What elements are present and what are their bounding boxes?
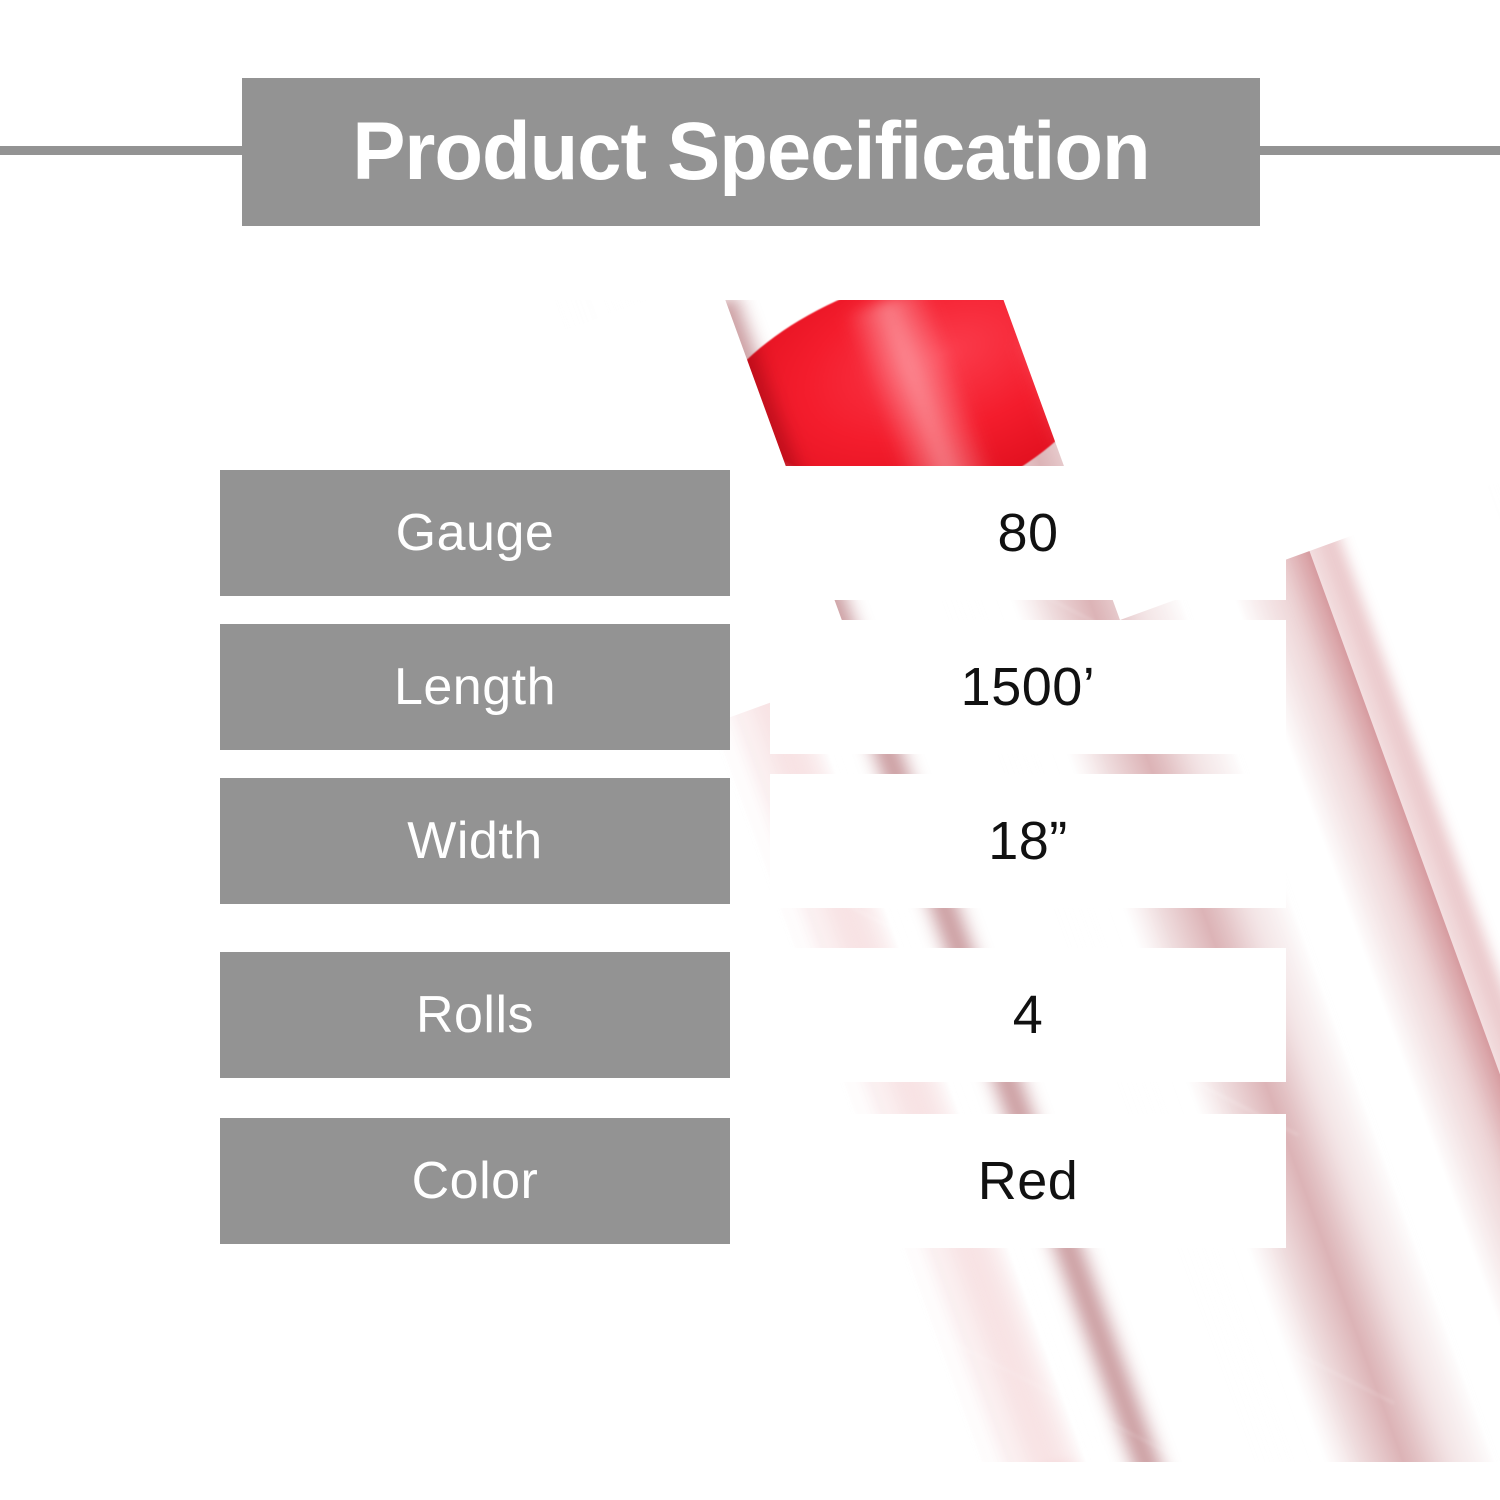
spec-value-text: Red: [978, 1154, 1079, 1208]
product-spec-canvas: Product Specification Gauge 80 Length 15…: [0, 0, 1500, 1500]
spec-label-text: Width: [407, 815, 542, 867]
spec-label-cell: Gauge: [220, 470, 730, 596]
table-row: Gauge 80: [0, 470, 1500, 596]
spec-label-cell: Width: [220, 778, 730, 904]
table-row: Length 1500’: [0, 624, 1500, 750]
spec-value-text: 1500’: [961, 660, 1096, 714]
spec-value-cell: 1500’: [770, 620, 1286, 754]
spec-value-text: 80: [997, 506, 1058, 560]
spec-label-cell: Rolls: [220, 952, 730, 1078]
spec-value-cell: 4: [770, 948, 1286, 1082]
spec-value-cell: Red: [770, 1114, 1286, 1248]
spec-value-text: 4: [1013, 988, 1044, 1042]
spec-label-cell: Color: [220, 1118, 730, 1244]
spec-label-cell: Length: [220, 624, 730, 750]
spec-value-cell: 80: [770, 466, 1286, 600]
spec-label-text: Gauge: [396, 507, 555, 559]
spec-label-text: Rolls: [416, 989, 534, 1041]
spec-value-cell: 18”: [770, 774, 1286, 908]
spec-table: Gauge 80 Length 1500’ Width 18” Rol: [0, 0, 1500, 1500]
table-row: Color Red: [0, 1118, 1500, 1244]
spec-value-text: 18”: [988, 814, 1068, 868]
table-row: Rolls 4: [0, 952, 1500, 1078]
spec-label-text: Length: [394, 661, 556, 713]
table-row: Width 18”: [0, 778, 1500, 904]
spec-label-text: Color: [412, 1155, 539, 1207]
